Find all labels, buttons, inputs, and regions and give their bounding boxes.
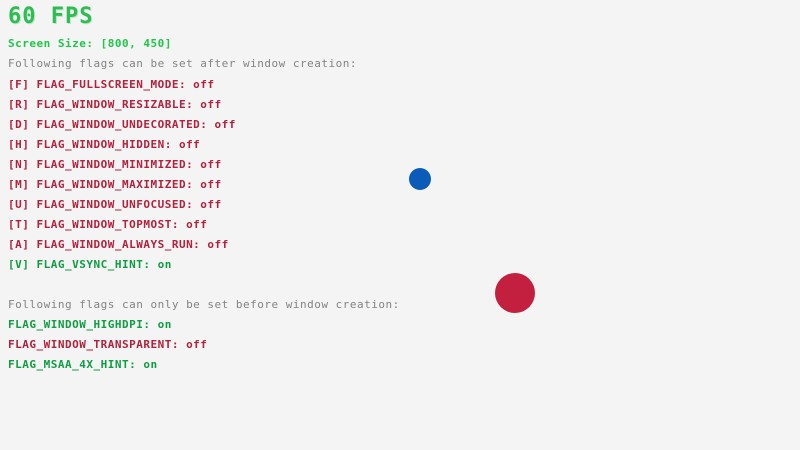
fps-counter: 60 FPS (8, 6, 93, 28)
red-ball-shape (495, 273, 535, 313)
after-creation-header: Following flags can be set after window … (8, 58, 357, 69)
flag-row-flag-window-transparent[interactable]: FLAG_WINDOW_TRANSPARENT: off (8, 339, 207, 350)
flag-row-flag-fullscreen-mode[interactable]: [F] FLAG_FULLSCREEN_MODE: off (8, 79, 215, 90)
flag-row-flag-window-topmost[interactable]: [T] FLAG_WINDOW_TOPMOST: off (8, 219, 207, 230)
flag-row-flag-window-highdpi[interactable]: FLAG_WINDOW_HIGHDPI: on (8, 319, 172, 330)
before-creation-header: Following flags can only be set before w… (8, 299, 400, 310)
flag-row-flag-window-maximized[interactable]: [M] FLAG_WINDOW_MAXIMIZED: off (8, 179, 222, 190)
flag-row-flag-window-undecorated[interactable]: [D] FLAG_WINDOW_UNDECORATED: off (8, 119, 236, 130)
flag-row-flag-window-hidden[interactable]: [H] FLAG_WINDOW_HIDDEN: off (8, 139, 200, 150)
flag-row-flag-window-resizable[interactable]: [R] FLAG_WINDOW_RESIZABLE: off (8, 99, 222, 110)
blue-ball-shape (409, 168, 431, 190)
flag-row-flag-msaa-4x-hint[interactable]: FLAG_MSAA_4X_HINT: on (8, 359, 158, 370)
flag-row-flag-window-unfocused[interactable]: [U] FLAG_WINDOW_UNFOCUSED: off (8, 199, 222, 210)
flag-row-flag-window-minimized[interactable]: [N] FLAG_WINDOW_MINIMIZED: off (8, 159, 222, 170)
flag-row-flag-window-always-run[interactable]: [A] FLAG_WINDOW_ALWAYS_RUN: off (8, 239, 229, 250)
screen-size-label: Screen Size: [800, 450] (8, 38, 172, 49)
app-canvas: 60 FPS Screen Size: [800, 450] Following… (0, 0, 800, 450)
flag-row-flag-vsync-hint[interactable]: [V] FLAG_VSYNC_HINT: on (8, 259, 172, 270)
